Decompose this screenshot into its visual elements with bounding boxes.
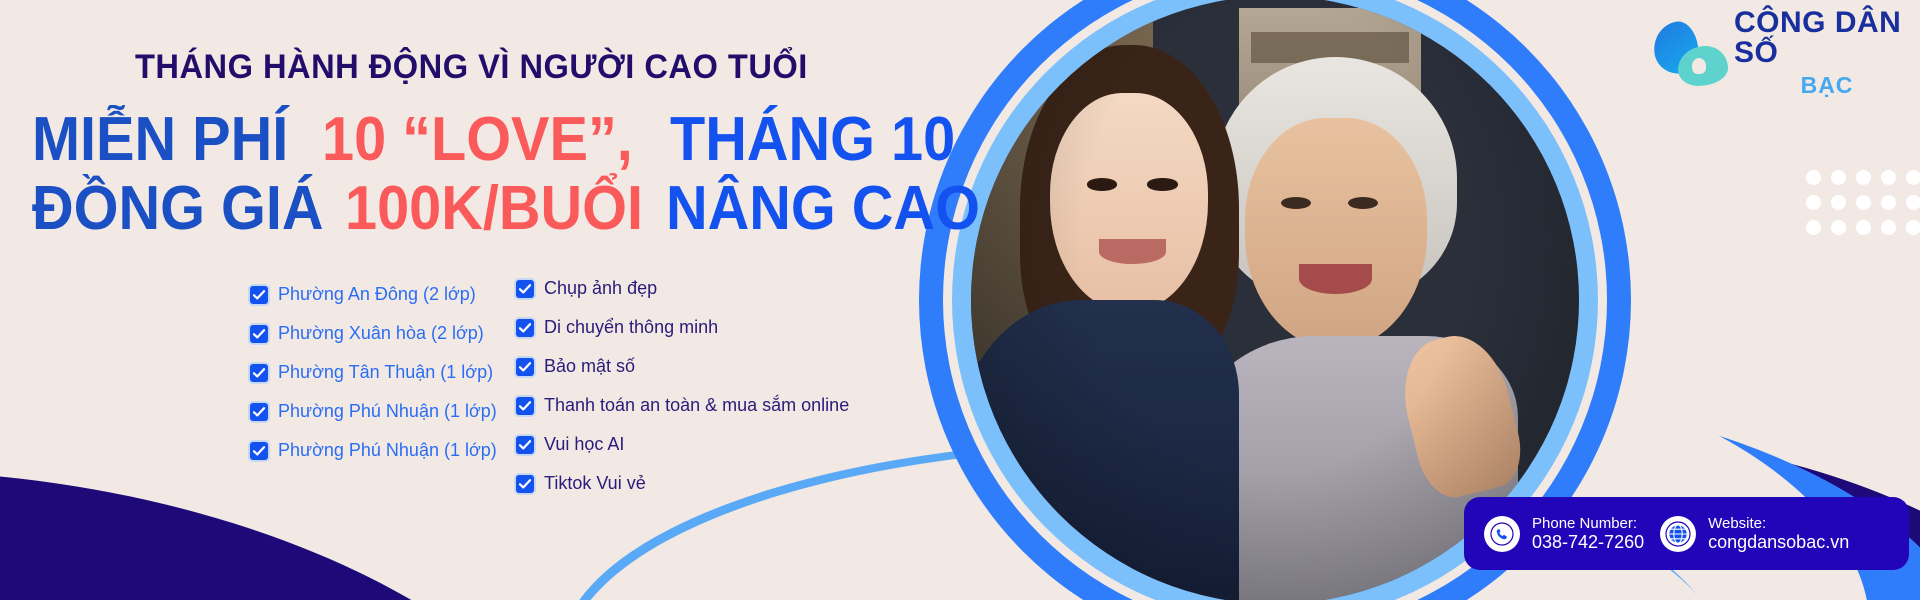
contact-website[interactable]: Website: congdansobac.vn <box>1660 515 1849 553</box>
headline-l1-seg2: 10 “LOVE”, <box>322 110 633 171</box>
logo-wordmark: CÔNG DÂN SỐ BẠC <box>1734 8 1920 97</box>
list-item[interactable]: Vui học AI <box>516 434 849 455</box>
checkbox-checked-icon[interactable] <box>516 397 534 415</box>
list-item[interactable]: Phường Xuân hòa (2 lớp) <box>250 323 497 344</box>
dot <box>1831 170 1846 185</box>
list-item[interactable]: Thanh toán an toàn & mua sắm online <box>516 395 849 416</box>
checkbox-checked-icon[interactable] <box>250 403 268 421</box>
features-checklist: Chụp ảnh đẹp Di chuyển thông minh Bảo mậ… <box>516 278 849 494</box>
dot <box>1856 220 1871 235</box>
list-item-label: Thanh toán an toàn & mua sắm online <box>544 395 849 416</box>
headline-l1-seg1: MIỄN PHÍ <box>32 110 288 171</box>
headline-l2-seg2: 100K/BUỔI <box>345 179 643 240</box>
contact-bar: Phone Number: 038-742-7260 <box>1464 497 1909 570</box>
checkbox-checked-icon[interactable] <box>516 475 534 493</box>
website-text: Website: congdansobac.vn <box>1708 515 1849 553</box>
logo-title: CÔNG DÂN SỐ <box>1734 8 1920 68</box>
list-item-label: Chụp ảnh đẹp <box>544 278 657 299</box>
list-item-label: Di chuyển thông minh <box>544 317 718 338</box>
checkbox-checked-icon[interactable] <box>516 358 534 376</box>
promo-banner: CÔNG DÂN SỐ BẠC THÁNG HÀNH ĐỘNG VÌ NGƯỜI… <box>0 0 1920 600</box>
dot <box>1806 195 1821 210</box>
dot <box>1831 195 1846 210</box>
list-item[interactable]: Phường Phú Nhuận (1 lớp) <box>250 401 497 422</box>
checkbox-checked-icon[interactable] <box>516 436 534 454</box>
list-item[interactable]: Bảo mật số <box>516 356 849 377</box>
phone-text: Phone Number: 038-742-7260 <box>1532 515 1644 553</box>
contact-phone[interactable]: Phone Number: 038-742-7260 <box>1484 515 1644 553</box>
list-item-label: Phường Phú Nhuận (1 lớp) <box>278 401 497 422</box>
logo-blob-icon <box>1652 20 1726 86</box>
dot <box>1806 170 1821 185</box>
dot <box>1806 220 1821 235</box>
website-value: congdansobac.vn <box>1708 532 1849 553</box>
dot <box>1881 170 1896 185</box>
list-item[interactable]: Phường Phú Nhuận (1 lớp) <box>250 440 497 461</box>
checkbox-checked-icon[interactable] <box>516 319 534 337</box>
website-label: Website: <box>1708 515 1849 532</box>
list-item-label: Phường Phú Nhuận (1 lớp) <box>278 440 497 461</box>
checkbox-checked-icon[interactable] <box>250 325 268 343</box>
list-item-label: Vui học AI <box>544 434 624 455</box>
list-item-label: Phường Xuân hòa (2 lớp) <box>278 323 484 344</box>
checkbox-checked-icon[interactable] <box>516 280 534 298</box>
headline-line-1: MIỄN PHÍ 10 “LOVE”, THÁNG 10 <box>32 110 992 171</box>
phone-icon <box>1484 516 1520 552</box>
logo-blob-notch <box>1692 58 1706 74</box>
dot <box>1856 170 1871 185</box>
dot <box>1906 170 1920 185</box>
checkbox-checked-icon[interactable] <box>250 286 268 304</box>
decor-dot-grid <box>1806 170 1920 235</box>
list-item[interactable]: Tiktok Vui vẻ <box>516 473 849 494</box>
phone-value: 038-742-7260 <box>1532 532 1644 553</box>
headline-l2-seg1: ĐỒNG GIÁ <box>32 179 324 240</box>
locations-checklist: Phường An Đông (2 lớp) Phường Xuân hòa (… <box>250 284 497 461</box>
dot <box>1881 195 1896 210</box>
dot <box>1856 195 1871 210</box>
dot <box>1831 220 1846 235</box>
list-item-label: Phường An Đông (2 lớp) <box>278 284 476 305</box>
dot <box>1906 195 1920 210</box>
phone-label: Phone Number: <box>1532 515 1644 532</box>
list-item[interactable]: Di chuyển thông minh <box>516 317 849 338</box>
globe-icon <box>1660 516 1696 552</box>
page-title: MIỄN PHÍ 10 “LOVE”, THÁNG 10 ĐỒNG GIÁ 10… <box>32 110 992 240</box>
list-item-label: Bảo mật số <box>544 356 635 377</box>
list-item-label: Phường Tân Thuận (1 lớp) <box>278 362 493 383</box>
dot <box>1906 220 1920 235</box>
list-item[interactable]: Phường Tân Thuận (1 lớp) <box>250 362 497 383</box>
headline-l1-seg3: THÁNG 10 <box>670 110 955 171</box>
list-item-label: Tiktok Vui vẻ <box>544 473 646 494</box>
list-item[interactable]: Phường An Đông (2 lớp) <box>250 284 497 305</box>
checkbox-checked-icon[interactable] <box>250 364 268 382</box>
list-item[interactable]: Chụp ảnh đẹp <box>516 278 849 299</box>
checkbox-checked-icon[interactable] <box>250 442 268 460</box>
logo-subtitle: BẠC <box>1801 74 1854 97</box>
headline-line-2: ĐỒNG GIÁ 100K/BUỔI NÂNG CAO <box>32 179 992 240</box>
dot <box>1881 220 1896 235</box>
headline-l2-seg3: NÂNG CAO <box>666 179 980 240</box>
page-kicker: THÁNG HÀNH ĐỘNG VÌ NGƯỜI CAO TUỔI <box>135 48 808 87</box>
brand-logo: CÔNG DÂN SỐ BẠC <box>1652 8 1920 97</box>
